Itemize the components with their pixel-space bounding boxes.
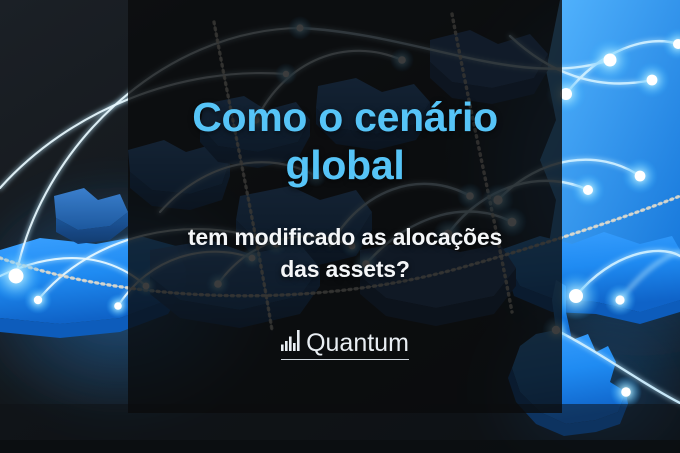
brand-logo: Quantum [281,330,409,360]
page-title: Como o cenário global [145,93,545,189]
bar-chart-icon [281,330,303,356]
subheadline-line-1: tem modificado as alocações [188,224,502,250]
headline-line-2: global [145,141,545,189]
brand-wordmark: Quantum [306,331,409,356]
banner-canvas: Como o cenário global tem modificado as … [0,0,680,453]
headline-line-1: Como o cenário [192,94,498,140]
banner-content: Como o cenário global tem modificado as … [128,0,562,413]
subheadline-line-2: das assets? [140,253,550,285]
page-subtitle: tem modificado as alocações das assets? [140,221,550,285]
